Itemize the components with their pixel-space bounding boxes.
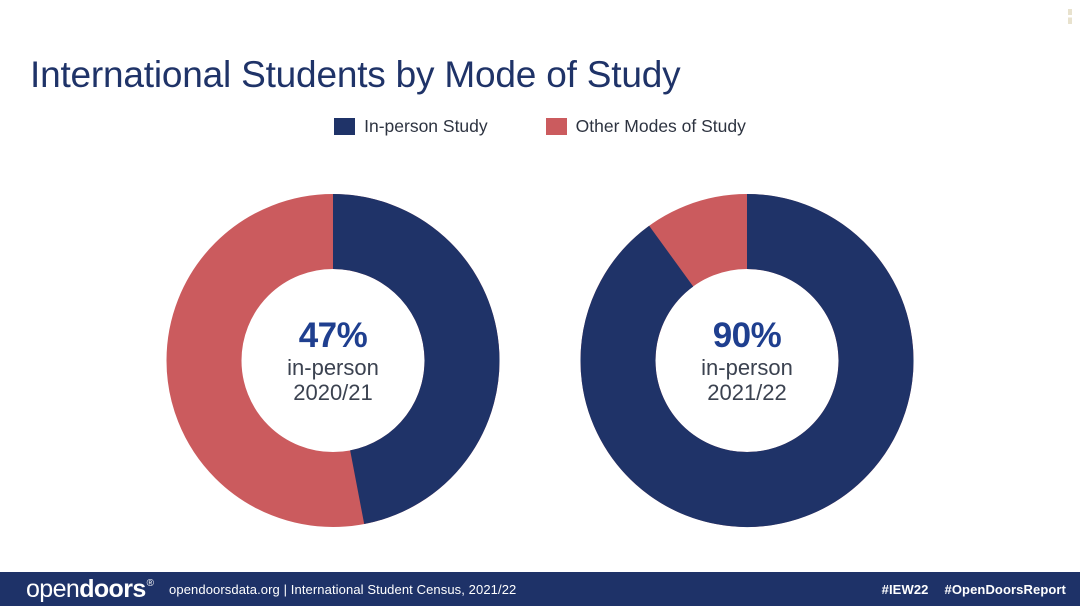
opendoors-logo[interactable]: opendoors® (26, 575, 153, 604)
hashtag-opendoorsreport[interactable]: #OpenDoorsReport (944, 582, 1066, 597)
square-swatch-icon (334, 118, 355, 135)
corner-artifact (1068, 9, 1072, 27)
donut-svg-2020-21 (166, 193, 500, 528)
page-title: International Students by Mode of Study (30, 54, 680, 96)
donut-chart-2020-21[interactable]: 47% in-person 2020/21 (166, 193, 500, 528)
registered-mark-icon: ® (147, 578, 154, 589)
charts-area: 47% in-person 2020/21 90% in-person 2021… (0, 193, 1080, 528)
footer-source-text: opendoorsdata.org | International Studen… (169, 582, 516, 597)
logo-open-text: open (26, 575, 79, 604)
legend-item-other-modes[interactable]: Other Modes of Study (546, 116, 746, 137)
hashtag-iew22[interactable]: #IEW22 (882, 582, 929, 597)
donut-slice-in-person (333, 232, 462, 488)
legend-item-label: Other Modes of Study (576, 116, 746, 137)
legend-item-label: In-person Study (364, 116, 488, 137)
donut-slices-2021-22 (618, 232, 876, 490)
chart-legend: In-person Study Other Modes of Study (0, 116, 1080, 137)
logo-doors-text: doors (79, 575, 145, 604)
donut-slice-in-person (618, 232, 876, 490)
footer-bar: opendoors® opendoorsdata.org | Internati… (0, 572, 1080, 606)
donut-svg-2021-22 (580, 193, 914, 528)
slide-canvas: International Students by Mode of Study … (0, 0, 1080, 606)
footer-hashtags: #IEW22 #OpenDoorsReport (882, 582, 1066, 597)
square-swatch-icon (546, 118, 567, 135)
donut-slices-2020-21 (204, 232, 462, 490)
legend-item-in-person[interactable]: In-person Study (334, 116, 488, 137)
donut-chart-2021-22[interactable]: 90% in-person 2021/22 (580, 193, 914, 528)
